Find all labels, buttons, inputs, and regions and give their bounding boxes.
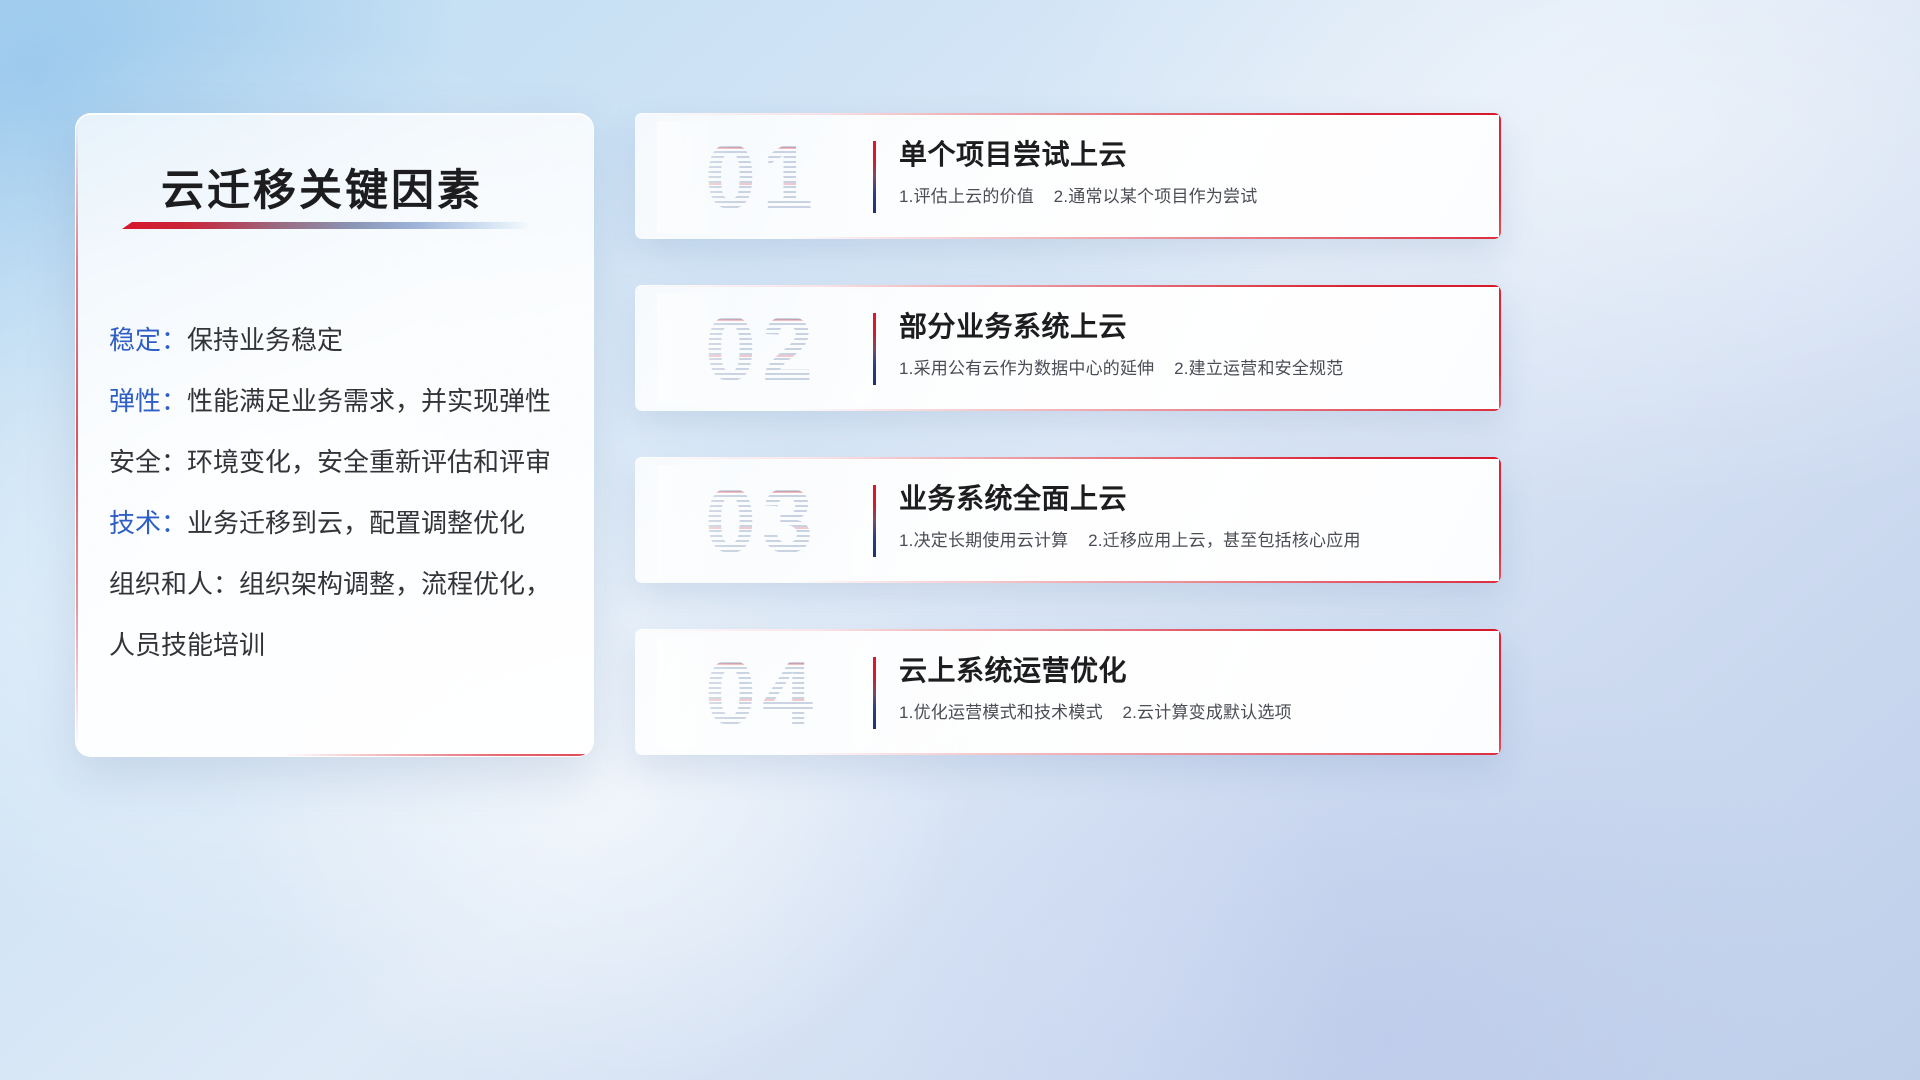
stage-card[interactable]: 0202部分业务系统上云1.采用公有云作为数据中心的延伸 2.建立运营和安全规范 — [635, 285, 1501, 411]
key-factor-text: 业务迁移到云，配置调整优化 — [187, 508, 525, 538]
card-title: 单个项目尝试上云 — [899, 135, 1475, 175]
key-factor-item: 弹性：性能满足业务需求，并实现弹性 — [109, 371, 569, 432]
key-factor-text: 环境变化，安全重新评估和评审 — [187, 447, 551, 477]
stage-card[interactable]: 0303业务系统全面上云1.决定长期使用云计算 2.迁移应用上云，甚至包括核心应… — [635, 457, 1501, 583]
card-body: 业务系统全面上云1.决定长期使用云计算 2.迁移应用上云，甚至包括核心应用 — [899, 479, 1475, 553]
key-factor-item: 人员技能培训 — [109, 615, 569, 676]
key-factor-label: 安全： — [109, 447, 187, 477]
card-body: 部分业务系统上云1.采用公有云作为数据中心的延伸 2.建立运营和安全规范 — [899, 307, 1475, 381]
card-subtitle: 1.评估上云的价值 2.通常以某个项目作为尝试 — [899, 185, 1475, 209]
key-factor-text: 保持业务稳定 — [187, 325, 343, 355]
panel-title: 云迁移关键因素 — [161, 156, 483, 218]
key-factor-item: 技术：业务迁移到云，配置调整优化 — [109, 493, 569, 554]
card-divider-bar — [873, 141, 876, 213]
key-factor-item: 稳定：保持业务稳定 — [109, 310, 569, 371]
key-factor-item: 组织和人：组织架构调整，流程优化， — [109, 554, 569, 615]
card-title: 部分业务系统上云 — [899, 307, 1475, 347]
card-bottom-accent — [791, 237, 1501, 239]
card-subtitle: 1.优化运营模式和技术模式 2.云计算变成默认选项 — [899, 701, 1475, 725]
card-title: 云上系统运营优化 — [899, 651, 1475, 691]
card-body: 云上系统运营优化1.优化运营模式和技术模式 2.云计算变成默认选项 — [899, 651, 1475, 725]
card-body: 单个项目尝试上云1.评估上云的价值 2.通常以某个项目作为尝试 — [899, 135, 1475, 209]
key-factor-label: 稳定： — [109, 325, 187, 355]
card-bottom-accent — [791, 409, 1501, 411]
key-factor-label: 组织和人： — [109, 569, 239, 599]
title-underline-gradient — [122, 222, 532, 229]
card-bottom-accent — [791, 581, 1501, 583]
key-factors-panel: 云迁移关键因素 稳定：保持业务稳定弹性：性能满足业务需求，并实现弹性安全：环境变… — [75, 113, 594, 757]
stage-number-watermark-accent: 01 — [657, 121, 867, 233]
card-divider-bar — [873, 657, 876, 729]
stage-cards-column: 0101单个项目尝试上云1.评估上云的价值 2.通常以某个项目作为尝试0202部… — [635, 113, 1501, 801]
stage-number-watermark-accent: 02 — [657, 293, 867, 405]
key-factor-text: 性能满足业务需求，并实现弹性 — [187, 386, 551, 416]
key-factors-list: 稳定：保持业务稳定弹性：性能满足业务需求，并实现弹性安全：环境变化，安全重新评估… — [109, 310, 569, 676]
stage-number-watermark-accent: 04 — [657, 637, 867, 749]
key-factor-text: 组织架构调整，流程优化， — [239, 569, 551, 599]
stage-card[interactable]: 0404云上系统运营优化1.优化运营模式和技术模式 2.云计算变成默认选项 — [635, 629, 1501, 755]
card-bottom-accent — [791, 753, 1501, 755]
card-subtitle: 1.决定长期使用云计算 2.迁移应用上云，甚至包括核心应用 — [899, 529, 1475, 553]
key-factor-item: 安全：环境变化，安全重新评估和评审 — [109, 432, 569, 493]
key-factor-label: 技术： — [109, 508, 187, 538]
stage-card[interactable]: 0101单个项目尝试上云1.评估上云的价值 2.通常以某个项目作为尝试 — [635, 113, 1501, 239]
slide-stage: 云迁移关键因素 稳定：保持业务稳定弹性：性能满足业务需求，并实现弹性安全：环境变… — [0, 0, 1920, 1080]
card-subtitle: 1.采用公有云作为数据中心的延伸 2.建立运营和安全规范 — [899, 357, 1475, 381]
card-divider-bar — [873, 313, 876, 385]
key-factor-label: 弹性： — [109, 386, 187, 416]
card-title: 业务系统全面上云 — [899, 479, 1475, 519]
card-divider-bar — [873, 485, 876, 557]
stage-number-watermark-accent: 03 — [657, 465, 867, 577]
key-factor-text: 人员技能培训 — [109, 630, 265, 660]
